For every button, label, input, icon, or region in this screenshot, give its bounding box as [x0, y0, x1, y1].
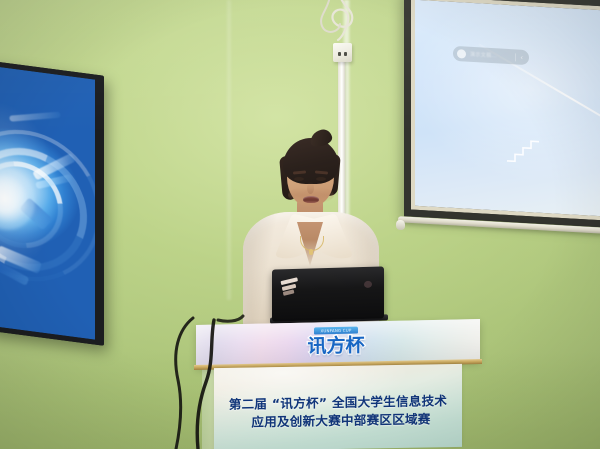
vignette-overlay — [0, 0, 600, 449]
scene-root: 演示文稿… ‹ — [0, 0, 600, 449]
